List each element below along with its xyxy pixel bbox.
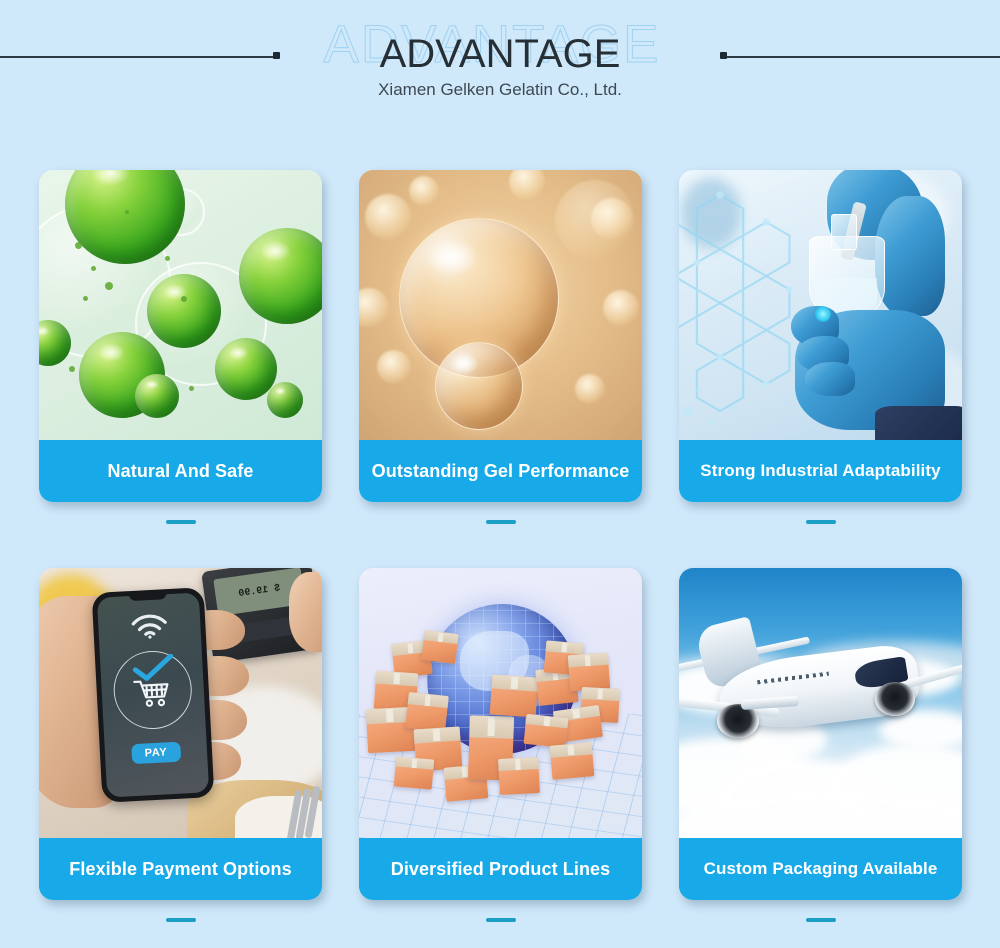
card-caption: Flexible Payment Options xyxy=(39,838,322,900)
title-block: ADVANTAGE ADVANTAGE xyxy=(0,22,1000,84)
advantage-card-1[interactable]: Natural And Safe xyxy=(39,170,322,524)
advantage-card-2[interactable]: Outstanding Gel Performance xyxy=(359,170,642,524)
mobile-payment-phone-image: $ 19.90 xyxy=(39,568,322,838)
advantage-card-6[interactable]: Custom Packaging Available xyxy=(679,568,962,922)
card-body[interactable]: $ 19.90 xyxy=(39,568,322,900)
card-underline xyxy=(806,918,836,922)
card-caption: Outstanding Gel Performance xyxy=(359,440,642,502)
card-body[interactable]: Diversified Product Lines xyxy=(359,568,642,900)
advantage-card-5[interactable]: Diversified Product Lines xyxy=(359,568,642,922)
card-underline xyxy=(806,520,836,524)
card-underline xyxy=(486,520,516,524)
card-caption: Natural And Safe xyxy=(39,440,322,502)
card-body[interactable]: Strong Industrial Adaptability xyxy=(679,170,962,502)
advantage-card-4[interactable]: $ 19.90 xyxy=(39,568,322,922)
page-header: ADVANTAGE ADVANTAGE Xiamen Gelken Gelati… xyxy=(0,0,1000,120)
smartphone: PAY xyxy=(92,587,215,803)
card-body[interactable]: Custom Packaging Available xyxy=(679,568,962,900)
company-subtitle: Xiamen Gelken Gelatin Co., Ltd. xyxy=(0,80,1000,100)
business-jet-above-clouds-image xyxy=(679,568,962,838)
wifi-icon xyxy=(129,610,170,640)
card-caption: Diversified Product Lines xyxy=(359,838,642,900)
lab-flask-gloved-hand-image xyxy=(679,170,962,440)
card-underline xyxy=(486,918,516,922)
advantage-card-grid: Natural And Safe xyxy=(39,170,961,922)
green-gel-bubbles-image xyxy=(39,170,322,440)
globe-with-parcel-boxes-image xyxy=(359,568,642,838)
card-caption: Custom Packaging Available xyxy=(679,838,962,900)
card-underline xyxy=(166,520,196,524)
card-underline xyxy=(166,918,196,922)
card-caption: Strong Industrial Adaptability xyxy=(679,440,962,502)
pay-button[interactable]: PAY xyxy=(131,742,181,765)
card-body[interactable]: Natural And Safe xyxy=(39,170,322,502)
advantage-card-3[interactable]: Strong Industrial Adaptability xyxy=(679,170,962,524)
shopping-cart-icon xyxy=(132,676,174,710)
page-title: ADVANTAGE xyxy=(0,34,1000,74)
card-body[interactable]: Outstanding Gel Performance xyxy=(359,170,642,502)
amber-gel-bubble-image xyxy=(359,170,642,440)
